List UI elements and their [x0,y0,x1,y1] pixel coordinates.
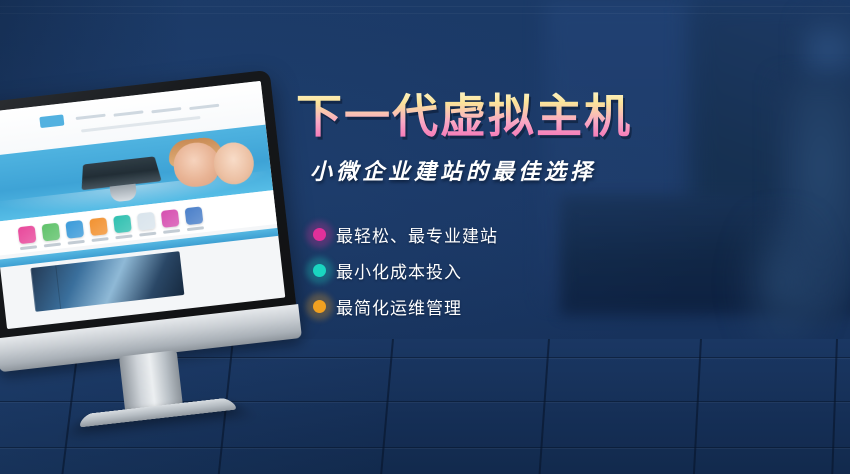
bullet-dot-magenta-icon [313,228,326,241]
marketing-copy: 下一代虚拟主机 小微企业建站的最佳选择 最轻松、最专业建站最小化成本投入最简化运… [296,92,696,324]
feature-list-item: 最小化成本投入 [302,252,696,288]
website-app-icon [65,220,84,239]
bullet-dot-orange-icon [313,300,326,313]
website-app-icon [185,206,204,225]
website-app-icon [89,217,108,236]
desktop-monitor [0,70,297,342]
feature-list: 最轻松、最专业建站最小化成本投入最简化运维管理 [302,216,696,324]
bullet-dot-wrap [302,264,336,277]
website-app-icon [42,223,61,242]
feature-list-item-label: 最简化运维管理 [336,294,462,319]
page-subtitle: 小微企业建站的最佳选择 [310,154,696,186]
feature-list-item: 最轻松、最专业建站 [302,216,696,252]
website-app-icon [161,209,180,228]
floor-gridline-horizontal [0,447,850,448]
website-app-icon [137,212,156,231]
feature-list-item: 最简化运维管理 [302,288,696,324]
page-title: 下一代虚拟主机 [296,92,696,140]
website-app-icon [113,215,132,234]
feature-list-item-label: 最轻松、最专业建站 [336,222,498,247]
bullet-dot-wrap [302,228,336,241]
bullet-dot-wrap [302,300,336,313]
feature-list-item-label: 最小化成本投入 [336,258,462,283]
website-app-icon [18,225,37,244]
promo-banner: 下一代虚拟主机 小微企业建站的最佳选择 最轻松、最专业建站最小化成本投入最简化运… [0,0,850,474]
bullet-dot-teal-icon [313,264,326,277]
monitor-screen [0,81,285,329]
